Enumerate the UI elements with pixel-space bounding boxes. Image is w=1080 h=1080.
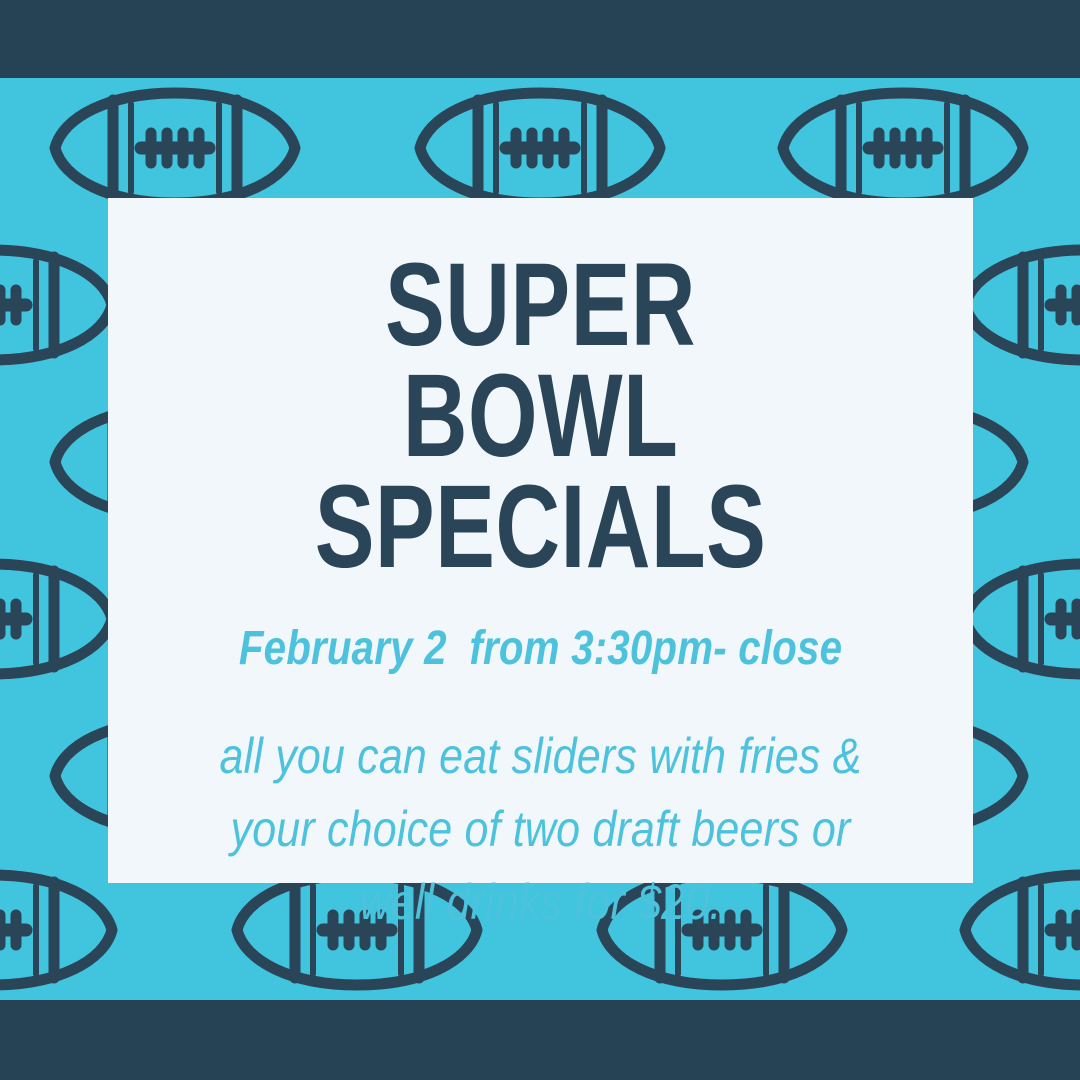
offer-line: well drinks for $20. xyxy=(208,866,873,939)
bottom-navy-band xyxy=(0,1000,1080,1080)
offer-line: your choice of two draft beers or xyxy=(208,793,873,866)
event-date-time: February 2 from 3:30pm- close xyxy=(216,623,865,676)
poster-canvas: SUPER BOWL SPECIALS February 2 from 3:30… xyxy=(0,0,1080,1080)
page-title: SUPER BOWL SPECIALS xyxy=(247,250,834,583)
top-navy-band xyxy=(0,0,1080,78)
content-card: SUPER BOWL SPECIALS February 2 from 3:30… xyxy=(108,198,973,883)
offer-description: all you can eat sliders with fries & you… xyxy=(208,720,873,939)
offer-line: all you can eat sliders with fries & xyxy=(208,720,873,793)
